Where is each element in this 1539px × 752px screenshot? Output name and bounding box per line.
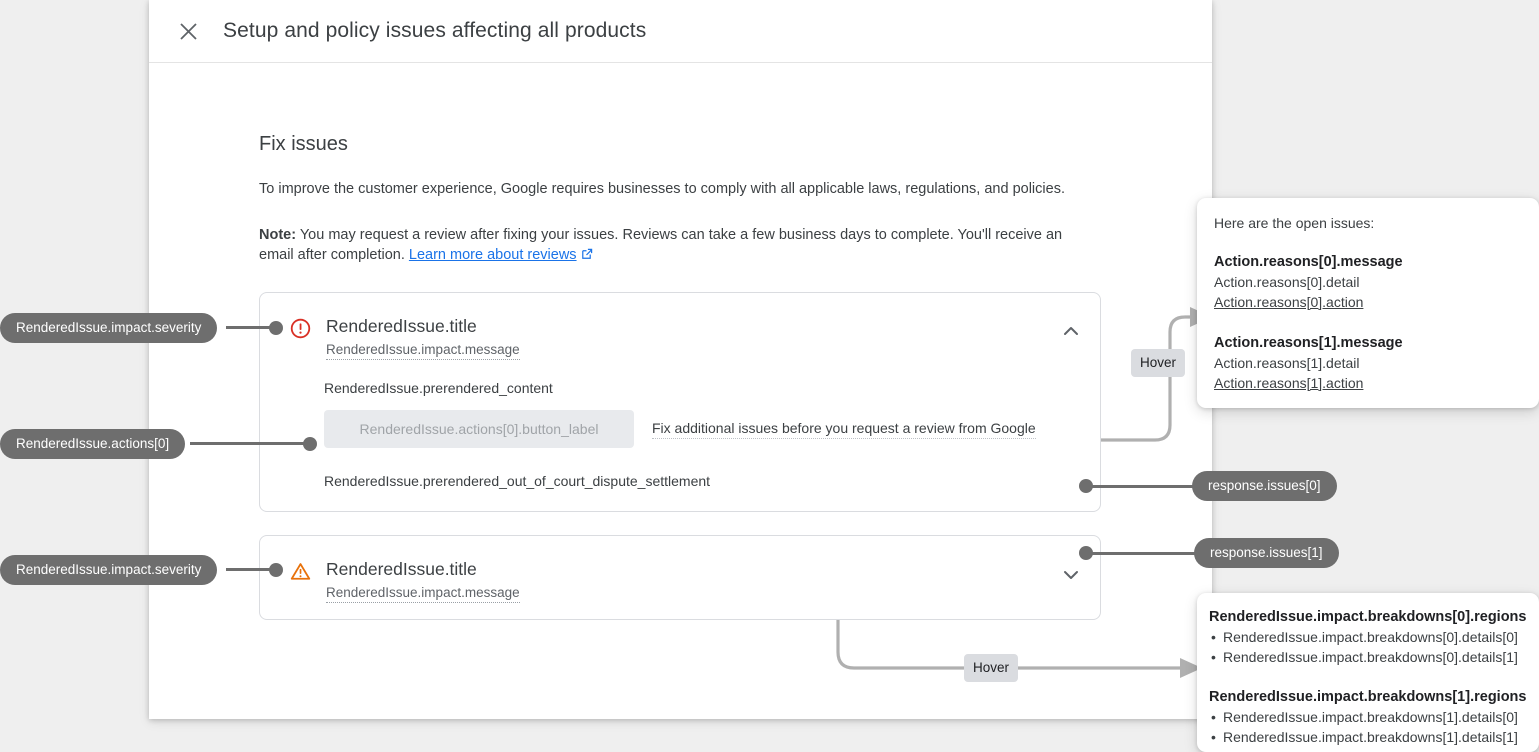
- issue-title: RenderedIssue.title: [326, 315, 1060, 337]
- reason-message: Action.reasons[1].message: [1214, 333, 1539, 353]
- reason-action-link[interactable]: Action.reasons[1].action: [1214, 373, 1539, 393]
- breakdown-detail: RenderedIssue.impact.breakdowns[1].detai…: [1209, 727, 1539, 747]
- leader-dot: [1079, 546, 1093, 560]
- leader-dot: [269, 321, 283, 335]
- issue-title: RenderedIssue.title: [326, 558, 1060, 580]
- error-circle-icon: [290, 318, 311, 339]
- warning-triangle-icon: [290, 561, 311, 582]
- callout-actions-0: RenderedIssue.actions[0]: [0, 429, 185, 459]
- external-link-icon: [580, 247, 593, 267]
- leader-dot: [1079, 479, 1093, 493]
- reason-group: Action.reasons[1].message Action.reasons…: [1214, 333, 1539, 393]
- breakdown-regions: RenderedIssue.impact.breakdowns[0].regio…: [1209, 607, 1539, 627]
- issue-card-1-header[interactable]: RenderedIssue.title RenderedIssue.impact…: [260, 293, 1100, 360]
- reason-detail: Action.reasons[0].detail: [1214, 272, 1539, 292]
- issue-card-1-texts: RenderedIssue.title RenderedIssue.impact…: [326, 315, 1060, 360]
- dialog-body: Fix issues To improve the customer exper…: [149, 63, 1212, 267]
- issue-card-2[interactable]: RenderedIssue.title RenderedIssue.impact…: [259, 535, 1101, 620]
- leader-line: [190, 442, 315, 445]
- callout-severity-2: RenderedIssue.impact.severity: [0, 555, 217, 585]
- issue-card-2-texts: RenderedIssue.title RenderedIssue.impact…: [326, 558, 1060, 603]
- chevron-down-icon[interactable]: [1060, 563, 1082, 585]
- breakdown-regions: RenderedIssue.impact.breakdowns[1].regio…: [1209, 687, 1539, 707]
- hover-chip-2: Hover: [964, 654, 1018, 682]
- leader-dot: [269, 563, 283, 577]
- issue-impact-message: RenderedIssue.impact.message: [326, 585, 520, 603]
- dialog-title: Setup and policy issues affecting all pr…: [223, 19, 646, 43]
- prerendered-content: RenderedIssue.prerendered_content: [260, 360, 1100, 396]
- callout-severity-1: RenderedIssue.impact.severity: [0, 313, 217, 343]
- leader-line: [1086, 552, 1201, 555]
- breakdown-group: RenderedIssue.impact.breakdowns[0].regio…: [1209, 607, 1539, 667]
- callout-response-issues-0: response.issues[0]: [1192, 471, 1337, 501]
- intro-paragraph: To improve the customer experience, Goog…: [259, 179, 1212, 199]
- dialog-header: Setup and policy issues affecting all pr…: [149, 0, 1212, 63]
- reason-message: Action.reasons[0].message: [1214, 252, 1539, 272]
- hover-chip-1: Hover: [1131, 349, 1185, 377]
- page-title: Fix issues: [259, 133, 1212, 156]
- reason-action-link[interactable]: Action.reasons[0].action: [1214, 292, 1539, 312]
- breakdown-detail: RenderedIssue.impact.breakdowns[1].detai…: [1209, 707, 1539, 727]
- screen: Setup and policy issues affecting all pr…: [0, 0, 1539, 752]
- issue-impact-message: RenderedIssue.impact.message: [326, 342, 520, 360]
- out-of-court-dispute-settlement: RenderedIssue.prerendered_out_of_court_d…: [260, 448, 1100, 489]
- request-review-button[interactable]: RenderedIssue.actions[0].button_label: [324, 410, 634, 448]
- reason-group: Action.reasons[0].message Action.reasons…: [1214, 252, 1539, 312]
- note-label: Note:: [259, 227, 296, 243]
- note-paragraph: Note: You may request a review after fix…: [259, 225, 1094, 267]
- close-icon[interactable]: [171, 14, 205, 48]
- issue-action-row: RenderedIssue.actions[0].button_label Fi…: [260, 396, 1100, 448]
- breakdown-detail: RenderedIssue.impact.breakdowns[0].detai…: [1209, 647, 1539, 667]
- fix-additional-issues-note: Fix additional issues before you request…: [652, 420, 1036, 439]
- leader-dot: [303, 437, 317, 451]
- chevron-up-icon[interactable]: [1060, 320, 1082, 342]
- issue-card-1[interactable]: RenderedIssue.title RenderedIssue.impact…: [259, 292, 1101, 512]
- open-issues-tooltip-panel: Here are the open issues: Action.reasons…: [1197, 198, 1539, 408]
- callout-response-issues-1: response.issues[1]: [1194, 538, 1339, 568]
- note-text: You may request a review after fixing yo…: [259, 227, 1062, 263]
- impact-breakdowns-tooltip-panel: RenderedIssue.impact.breakdowns[0].regio…: [1197, 593, 1539, 752]
- breakdown-group: RenderedIssue.impact.breakdowns[1].regio…: [1209, 687, 1539, 747]
- reason-detail: Action.reasons[1].detail: [1214, 353, 1539, 373]
- leader-line: [1086, 485, 1201, 488]
- breakdown-detail: RenderedIssue.impact.breakdowns[0].detai…: [1209, 627, 1539, 647]
- learn-more-link[interactable]: Learn more about reviews: [409, 247, 577, 263]
- panel-intro: Here are the open issues:: [1214, 215, 1539, 231]
- issue-card-2-header[interactable]: RenderedIssue.title RenderedIssue.impact…: [260, 536, 1100, 603]
